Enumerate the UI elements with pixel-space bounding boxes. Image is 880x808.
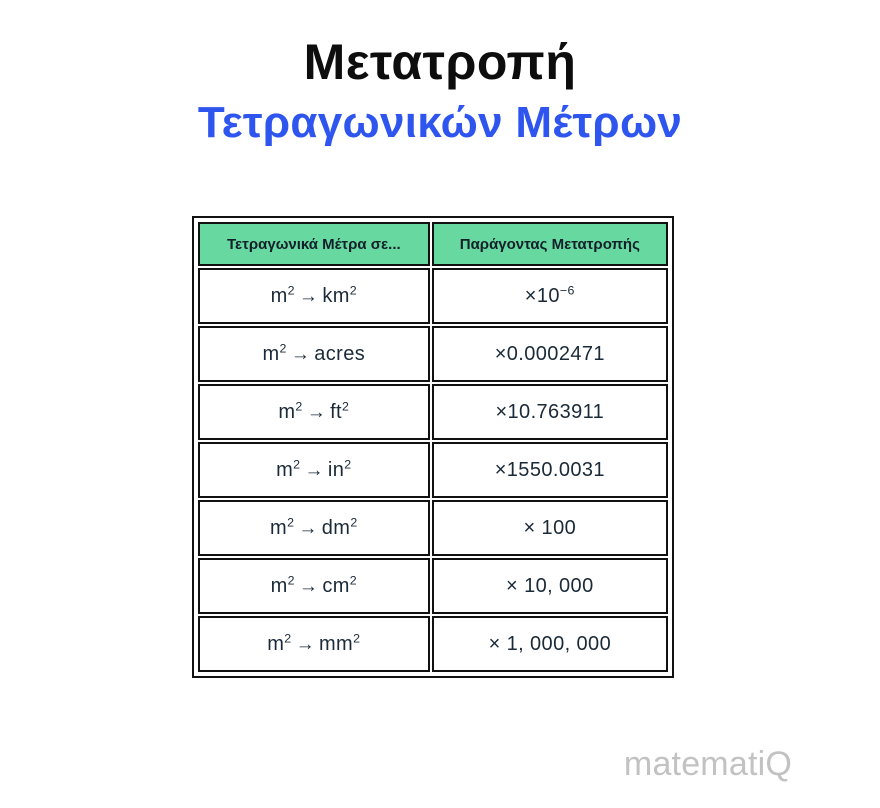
table-row: m2→km2×10−6: [198, 268, 668, 324]
cell-conversion-factor: ×1550.0031: [432, 442, 668, 498]
page-title: Μετατροπή: [0, 34, 880, 90]
cell-conversion-factor: × 100: [432, 500, 668, 556]
table-row: m2→dm2× 100: [198, 500, 668, 556]
cell-conversion-pair: m2→dm2: [198, 500, 430, 556]
table-row: m2→in2×1550.0031: [198, 442, 668, 498]
cell-conversion-factor: ×10−6: [432, 268, 668, 324]
table-row: m2→acres×0.0002471: [198, 326, 668, 382]
page-subtitle: Τετραγωνικών Μέτρων: [0, 98, 880, 149]
column-header-factor: Παράγοντας Μετατροπής: [432, 222, 668, 266]
table-row: m2→cm2× 10, 000: [198, 558, 668, 614]
cell-conversion-pair: m2→mm2: [198, 616, 430, 672]
table-row: m2→ft2×10.763911: [198, 384, 668, 440]
cell-conversion-factor: × 10, 000: [432, 558, 668, 614]
title-block: Μετατροπή Τετραγωνικών Μέτρων: [0, 0, 880, 149]
cell-conversion-factor: × 1, 000, 000: [432, 616, 668, 672]
cell-conversion-pair: m2→acres: [198, 326, 430, 382]
cell-conversion-factor: ×10.763911: [432, 384, 668, 440]
cell-conversion-pair: m2→in2: [198, 442, 430, 498]
table-header: Τετραγωνικά Μέτρα σε... Παράγοντας Μετατ…: [198, 222, 668, 266]
conversion-table-container: Τετραγωνικά Μέτρα σε... Παράγοντας Μετατ…: [192, 216, 674, 678]
table-body: m2→km2×10−6m2→acres×0.0002471m2→ft2×10.7…: [198, 268, 668, 672]
slide-root: Μετατροπή Τετραγωνικών Μέτρων Τετραγωνικ…: [0, 0, 880, 808]
cell-conversion-factor: ×0.0002471: [432, 326, 668, 382]
table-row: m2→mm2× 1, 000, 000: [198, 616, 668, 672]
cell-conversion-pair: m2→km2: [198, 268, 430, 324]
conversion-table: Τετραγωνικά Μέτρα σε... Παράγοντας Μετατ…: [196, 220, 670, 674]
table-header-row: Τετραγωνικά Μέτρα σε... Παράγοντας Μετατ…: [198, 222, 668, 266]
cell-conversion-pair: m2→cm2: [198, 558, 430, 614]
column-header-from: Τετραγωνικά Μέτρα σε...: [198, 222, 430, 266]
watermark: matematiQ: [624, 745, 792, 784]
cell-conversion-pair: m2→ft2: [198, 384, 430, 440]
